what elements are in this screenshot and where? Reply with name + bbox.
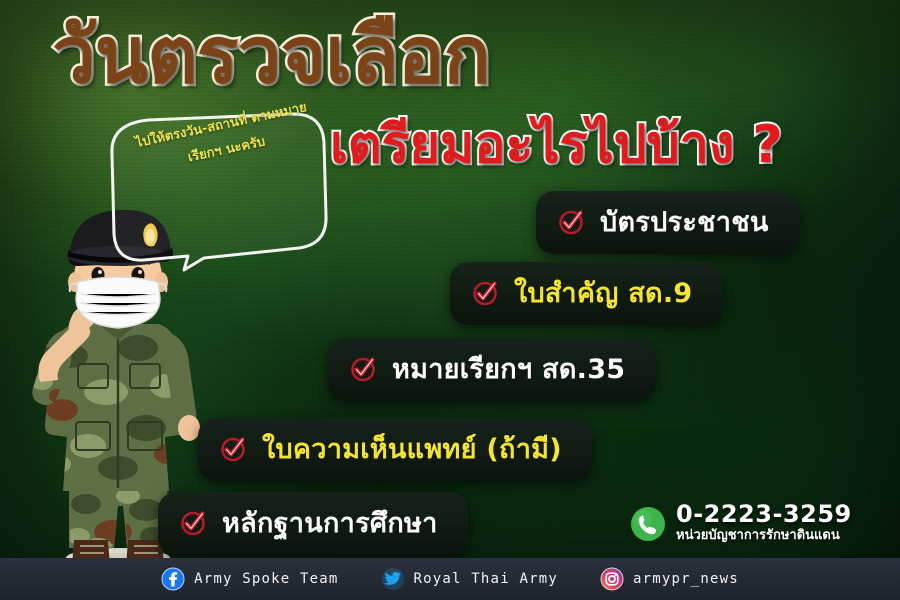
contact-block: 0-2223-3259 หน่วยบัญชาการรักษาดินแดน xyxy=(630,502,852,545)
instagram-icon[interactable] xyxy=(600,567,624,591)
check-circle-icon xyxy=(472,280,498,306)
checklist-item-label: ใบสำคัญ สด.9 xyxy=(514,271,693,314)
checklist-item: หลักฐานการศึกษา xyxy=(158,492,468,555)
checklist-item: ใบความเห็นแพทย์ (ถ้ามี) xyxy=(198,418,592,481)
check-circle-icon xyxy=(220,436,246,462)
twitter-icon[interactable] xyxy=(381,567,405,591)
checklist-item-label: หลักฐานการศึกษา xyxy=(222,501,438,544)
checklist-item: ใบสำคัญ สด.9 xyxy=(450,262,723,325)
check-circle-icon xyxy=(558,209,584,235)
social-label-facebook: Army Spoke Team xyxy=(194,571,338,587)
facebook-icon[interactable] xyxy=(161,567,185,591)
speech-bubble: ไปให้ตรงวัน-สถานที่ ตามหมายเรียกฯ นะครับ xyxy=(108,112,328,272)
checklist-item-label: หมายเรียกฯ สด.35 xyxy=(392,347,625,390)
checklist-item: บัตรประชาชน xyxy=(536,191,799,254)
poster-canvas: ไปให้ตรงวัน-สถานที่ ตามหมายเรียกฯ นะครับ… xyxy=(0,0,900,600)
social-link-facebook[interactable]: Army Spoke Team xyxy=(161,567,338,591)
check-circle-icon xyxy=(350,356,376,382)
phone-icon xyxy=(630,506,666,542)
social-label-twitter: Royal Thai Army xyxy=(414,571,558,587)
checklist-item-label: บัตรประชาชน xyxy=(600,200,769,243)
contact-phone-number: 0-2223-3259 xyxy=(676,502,852,527)
checklist-item-label: ใบความเห็นแพทย์ (ถ้ามี) xyxy=(262,427,562,470)
check-circle-icon xyxy=(180,510,206,536)
social-footer-bar: Army Spoke Team Royal Thai Army xyxy=(0,558,900,600)
contact-organization: หน่วยบัญชาการรักษาดินแดน xyxy=(676,528,852,545)
social-link-twitter[interactable]: Royal Thai Army xyxy=(381,567,558,591)
social-link-instagram[interactable]: armypr_news xyxy=(600,567,739,591)
social-label-instagram: armypr_news xyxy=(633,571,739,587)
checklist-item: หมายเรียกฯ สด.35 xyxy=(328,338,655,401)
page-subtitle: เตรียมอะไรไปบ้าง ? xyxy=(330,118,783,173)
page-title: วันตรวจเลือก xyxy=(52,16,490,98)
